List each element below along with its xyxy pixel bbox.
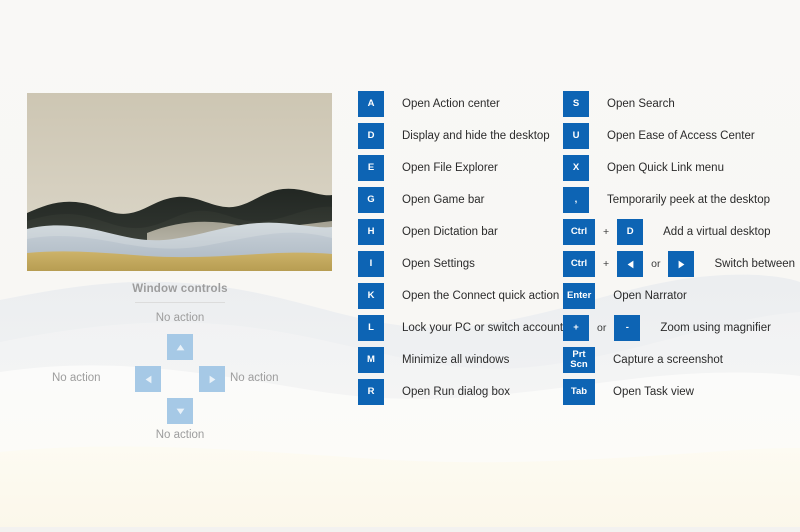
dpad-right-key[interactable] <box>199 366 225 392</box>
key-enter[interactable]: Enter <box>563 283 595 309</box>
dpad-right-label: No action <box>230 372 279 384</box>
key-label: D <box>627 227 634 237</box>
key-label: R <box>368 387 375 397</box>
key-u[interactable]: U <box>563 123 589 149</box>
shortcut-description: Open Narrator <box>595 290 687 302</box>
shortcut-description: Open Settings <box>384 258 475 270</box>
key-label: A <box>368 99 375 109</box>
shortcut-description: Zoom using magnifier <box>640 322 771 334</box>
shortcut-description: Open Task view <box>595 386 694 398</box>
key-label: Enter <box>567 291 591 301</box>
shortcut-row: EOpen File Explorer <box>358 152 558 184</box>
key-label: X <box>573 163 579 173</box>
key-a[interactable]: A <box>358 91 384 117</box>
key-label: Tab <box>571 387 587 397</box>
shortcuts-poster: Window controls No action No action No a… <box>0 0 800 532</box>
key-separator-plus: + <box>595 226 617 238</box>
key-s[interactable]: S <box>563 91 589 117</box>
window-controls-divider <box>135 302 225 303</box>
shortcut-row: Ctrl+DAdd a virtual desktop <box>563 216 800 248</box>
dpad-left-label: No action <box>52 372 101 384</box>
key-x[interactable]: X <box>563 155 589 181</box>
key-ctrl[interactable]: Ctrl <box>563 219 595 245</box>
key-label: Ctrl <box>571 227 587 237</box>
arrow-right-icon <box>209 375 216 384</box>
key-separator-or: or <box>643 258 668 270</box>
key-label: H <box>368 227 375 237</box>
shortcut-row: TabOpen Task view <box>563 376 800 408</box>
arrow-left-icon <box>145 375 152 384</box>
shortcut-column-left: AOpen Action centerDDisplay and hide the… <box>358 88 558 408</box>
shortcut-description: Lock your PC or switch accounts <box>384 322 569 334</box>
key-symbol[interactable]: + <box>563 315 589 341</box>
dpad-down-key[interactable] <box>167 398 193 424</box>
key-m[interactable]: M <box>358 347 384 373</box>
key-arrow-right-icon[interactable] <box>668 251 694 277</box>
arrow-up-icon <box>176 344 185 351</box>
shortcut-row: DDisplay and hide the desktop <box>358 120 558 152</box>
key-g[interactable]: G <box>358 187 384 213</box>
key-separator-plus: + <box>595 258 617 270</box>
key-label: U <box>573 131 580 141</box>
window-controls-title: Window controls <box>30 283 330 295</box>
key-label: D <box>368 131 375 141</box>
shortcut-row: IOpen Settings <box>358 248 558 280</box>
key-separator-or: or <box>589 322 614 334</box>
shortcut-row: MMinimize all windows <box>358 344 558 376</box>
shortcut-description: Open Game bar <box>384 194 484 206</box>
key-label: L <box>368 323 374 333</box>
shortcut-column-right: SOpen SearchUOpen Ease of Access CenterX… <box>563 88 800 408</box>
shortcut-row: AOpen Action center <box>358 88 558 120</box>
key-tab[interactable]: Tab <box>563 379 595 405</box>
key-i[interactable]: I <box>358 251 384 277</box>
key-label: E <box>368 163 374 173</box>
key-l[interactable]: L <box>358 315 384 341</box>
shortcut-description: Capture a screenshot <box>595 354 723 366</box>
key-label: K <box>368 291 375 301</box>
key-r[interactable]: R <box>358 379 384 405</box>
key-symbol[interactable]: - <box>614 315 640 341</box>
key-label: Ctrl <box>571 259 587 269</box>
key-symbol[interactable]: , <box>563 187 589 213</box>
arrow-key-pad: No action No action No action No action <box>30 305 330 430</box>
arrow-right-icon <box>678 260 685 269</box>
shortcut-description: Minimize all windows <box>384 354 509 366</box>
key-e[interactable]: E <box>358 155 384 181</box>
shortcut-row: XOpen Quick Link menu <box>563 152 800 184</box>
shortcut-row: HOpen Dictation bar <box>358 216 558 248</box>
shortcut-row: ROpen Run dialog box <box>358 376 558 408</box>
key-label: M <box>367 355 375 365</box>
key-label: G <box>367 195 374 205</box>
shortcut-description: Open Dictation bar <box>384 226 498 238</box>
dpad-up-key[interactable] <box>167 334 193 360</box>
shortcut-description: Open File Explorer <box>384 162 498 174</box>
key-label: I <box>370 259 373 269</box>
key-label: S <box>573 99 579 109</box>
shortcut-description: Temporarily peek at the desktop <box>589 194 770 206</box>
landscape-thumbnail <box>27 93 332 271</box>
key-label: - <box>626 323 629 333</box>
key-label: , <box>575 195 578 205</box>
key-d[interactable]: D <box>358 123 384 149</box>
window-controls-section: Window controls No action No action No a… <box>30 283 330 430</box>
key-k[interactable]: K <box>358 283 384 309</box>
shortcut-description: Open Action center <box>384 98 500 110</box>
key-arrow-left-icon[interactable] <box>617 251 643 277</box>
shortcut-description: Display and hide the desktop <box>384 130 550 142</box>
shortcut-description: Open Quick Link menu <box>589 162 724 174</box>
shortcut-row: Ctrl+orSwitch between <box>563 248 800 280</box>
shortcut-description: Open Ease of Access Center <box>589 130 755 142</box>
shortcut-description: Open the Connect quick action <box>384 290 559 302</box>
shortcut-row: GOpen Game bar <box>358 184 558 216</box>
shortcut-row: SOpen Search <box>563 88 800 120</box>
shortcut-description: Open Run dialog box <box>384 386 510 398</box>
shortcut-row: +or-Zoom using magnifier <box>563 312 800 344</box>
arrow-down-icon <box>176 408 185 415</box>
shortcut-row: ,Temporarily peek at the desktop <box>563 184 800 216</box>
shortcut-row: UOpen Ease of Access Center <box>563 120 800 152</box>
dpad-up-label: No action <box>30 312 330 324</box>
shortcut-description: Switch between <box>694 258 795 270</box>
key-d[interactable]: D <box>617 219 643 245</box>
dpad-left-key[interactable] <box>135 366 161 392</box>
shortcut-row: LLock your PC or switch accounts <box>358 312 558 344</box>
shortcut-description: Add a virtual desktop <box>643 226 770 238</box>
shortcut-row: EnterOpen Narrator <box>563 280 800 312</box>
shortcut-description: Open Search <box>589 98 675 110</box>
arrow-left-icon <box>627 260 634 269</box>
key-prt-scn[interactable]: PrtScn <box>563 347 595 373</box>
shortcut-row: KOpen the Connect quick action <box>358 280 558 312</box>
dpad-down-label: No action <box>30 429 330 441</box>
key-h[interactable]: H <box>358 219 384 245</box>
key-ctrl[interactable]: Ctrl <box>563 251 595 277</box>
key-line-1: Scn <box>570 360 587 370</box>
shortcut-row: PrtScnCapture a screenshot <box>563 344 800 376</box>
key-label: + <box>573 323 579 333</box>
